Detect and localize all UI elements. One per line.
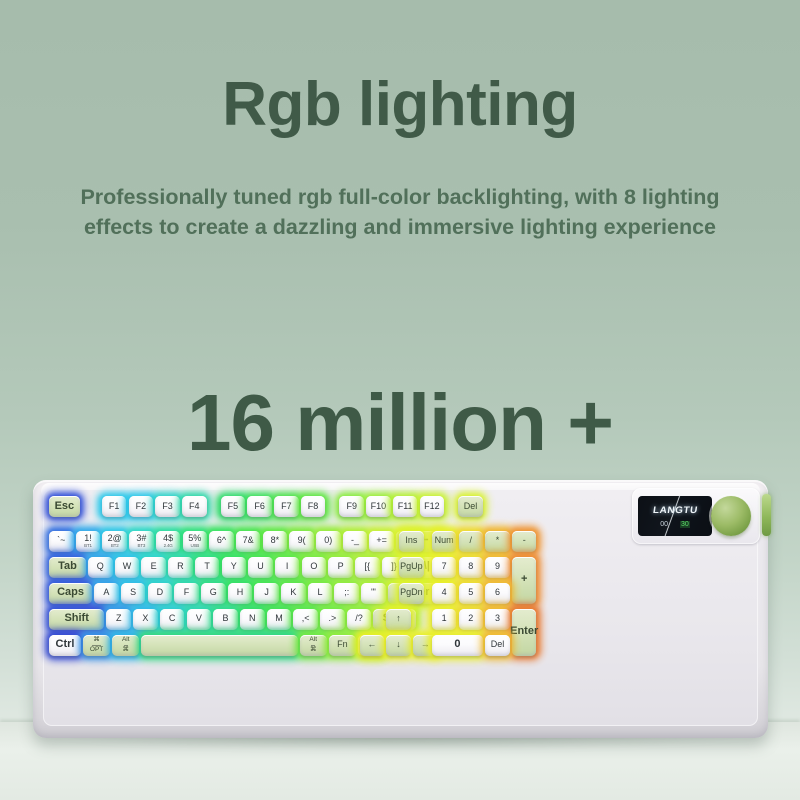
key-key[interactable]: `~ bbox=[49, 531, 74, 552]
key-numlock[interactable]: Num bbox=[432, 531, 457, 552]
key-numpad-4[interactable]: 4 bbox=[432, 583, 457, 604]
key-m[interactable]: M bbox=[267, 609, 292, 630]
key-k[interactable]: K bbox=[281, 583, 306, 604]
key-f7[interactable]: F7 bbox=[274, 496, 299, 517]
page-title: Rgb lighting bbox=[0, 72, 800, 137]
key-label: Alt⌘ bbox=[122, 636, 130, 654]
key-e[interactable]: E bbox=[141, 557, 166, 578]
key-sublabel: USB bbox=[188, 544, 201, 549]
key-f10[interactable]: F10 bbox=[366, 496, 391, 517]
key-r[interactable]: R bbox=[168, 557, 193, 578]
key-f4[interactable]: F4 bbox=[182, 496, 207, 517]
key-q[interactable]: Q bbox=[88, 557, 113, 578]
key-numpad-0[interactable]: 0 bbox=[432, 635, 483, 656]
keyboard: LANGTU 00 30 EscF1F2F3F4F5F6F7F8F9F10F11… bbox=[33, 480, 768, 738]
key-j[interactable]: J bbox=[254, 583, 279, 604]
key-key[interactable]: -_ bbox=[343, 531, 368, 552]
key-numpad-divide[interactable]: / bbox=[459, 531, 484, 552]
key-numpad-enter[interactable]: Enter bbox=[512, 609, 537, 656]
key-del-top[interactable]: Del bbox=[458, 496, 483, 517]
key-key[interactable]: /? bbox=[347, 609, 372, 630]
key-u[interactable]: U bbox=[248, 557, 273, 578]
key-label: 5% bbox=[188, 533, 201, 543]
key-ins[interactable]: Ins bbox=[399, 531, 424, 552]
key-7[interactable]: 7& bbox=[236, 531, 261, 552]
key-numpad-9[interactable]: 9 bbox=[485, 557, 510, 578]
key-numpad-7[interactable]: 7 bbox=[432, 557, 457, 578]
key-key[interactable]: '" bbox=[361, 583, 386, 604]
key-caps[interactable]: Caps bbox=[49, 583, 92, 604]
key-numpad-2[interactable]: 2 bbox=[459, 609, 484, 630]
key-key[interactable]: ;: bbox=[334, 583, 359, 604]
key-a[interactable]: A bbox=[94, 583, 119, 604]
key-b[interactable]: B bbox=[213, 609, 238, 630]
color-count-headline: 16 million + bbox=[0, 377, 800, 469]
key-f12[interactable]: F12 bbox=[420, 496, 445, 517]
key-w[interactable]: W bbox=[115, 557, 140, 578]
key-0[interactable]: 0) bbox=[316, 531, 341, 552]
key-f9[interactable]: F9 bbox=[339, 496, 364, 517]
volume-knob[interactable] bbox=[711, 496, 751, 536]
oled-screen: LANGTU 00 30 bbox=[638, 496, 712, 536]
key-numpad-5[interactable]: 5 bbox=[459, 583, 484, 604]
key-numpad-3[interactable]: 3 bbox=[485, 609, 510, 630]
key-p[interactable]: P bbox=[328, 557, 353, 578]
key-numpad-multiply[interactable]: * bbox=[485, 531, 510, 552]
key-z[interactable]: Z bbox=[106, 609, 131, 630]
key-8[interactable]: 8* bbox=[263, 531, 288, 552]
key-i[interactable]: I bbox=[275, 557, 300, 578]
key-label: 4$ bbox=[163, 533, 173, 543]
key-shift-left[interactable]: Shift bbox=[49, 609, 104, 630]
key-label: 3# bbox=[136, 533, 146, 543]
key-key[interactable]: ,< bbox=[293, 609, 318, 630]
key-alt[interactable]: Alt⌘ bbox=[300, 635, 327, 656]
promo-banner: Rgb lighting Professionally tuned rgb fu… bbox=[0, 0, 800, 800]
key-f5[interactable]: F5 bbox=[221, 496, 246, 517]
brand-logo: LANGTU bbox=[652, 505, 698, 515]
key-sublabel: BT1 bbox=[84, 544, 92, 549]
key-key[interactable]: .> bbox=[320, 609, 345, 630]
key-arrow-up[interactable]: ↑ bbox=[386, 609, 411, 630]
key-sublabel: 2.4G bbox=[163, 544, 173, 549]
key-c[interactable]: C bbox=[160, 609, 185, 630]
key-f6[interactable]: F6 bbox=[247, 496, 272, 517]
key-fn[interactable]: Fn bbox=[329, 635, 356, 656]
key-f2[interactable]: F2 bbox=[129, 496, 154, 517]
key-4[interactable]: 4$2.4G bbox=[156, 531, 181, 552]
key-f11[interactable]: F11 bbox=[393, 496, 418, 517]
key-label: 2@ bbox=[108, 533, 122, 543]
display-module: LANGTU 00 30 bbox=[632, 488, 760, 544]
key-1[interactable]: 1!BT1 bbox=[76, 531, 101, 552]
key-v[interactable]: V bbox=[187, 609, 212, 630]
key-ctrl-left[interactable]: Ctrl bbox=[49, 635, 81, 656]
key-d[interactable]: D bbox=[148, 583, 173, 604]
key-numpad-8[interactable]: 8 bbox=[459, 557, 484, 578]
key-key[interactable]: += bbox=[369, 531, 394, 552]
screen-readout: 00 30 bbox=[660, 521, 690, 528]
key-5[interactable]: 5%USB bbox=[183, 531, 208, 552]
key-numpad-plus[interactable]: + bbox=[512, 557, 537, 604]
key-f3[interactable]: F3 bbox=[155, 496, 180, 517]
key-f1[interactable]: F1 bbox=[102, 496, 127, 517]
keyboard-case: LANGTU 00 30 EscF1F2F3F4F5F6F7F8F9F10F11… bbox=[33, 480, 768, 738]
key-space[interactable] bbox=[141, 635, 297, 656]
side-accent-strip bbox=[762, 494, 771, 536]
key-g[interactable]: G bbox=[201, 583, 226, 604]
key-h[interactable]: H bbox=[228, 583, 253, 604]
key-o[interactable]: O bbox=[302, 557, 327, 578]
key-sublabel: BT2 bbox=[108, 544, 122, 549]
key-f8[interactable]: F8 bbox=[301, 496, 326, 517]
key-9[interactable]: 9( bbox=[289, 531, 314, 552]
key-pgup[interactable]: PgUp bbox=[399, 557, 424, 578]
key-key[interactable]: [{ bbox=[355, 557, 380, 578]
key-6[interactable]: 6^ bbox=[209, 531, 234, 552]
key-numpad-minus[interactable]: - bbox=[512, 531, 537, 552]
key-2[interactable]: 2@BT2 bbox=[102, 531, 127, 552]
key-t[interactable]: T bbox=[195, 557, 220, 578]
key-label: 1! bbox=[84, 533, 92, 543]
key-n[interactable]: N bbox=[240, 609, 265, 630]
key-sublabel: BT3 bbox=[136, 544, 146, 549]
key-numpad-del[interactable]: Del bbox=[485, 635, 510, 656]
key-l[interactable]: L bbox=[308, 583, 333, 604]
key-y[interactable]: Y bbox=[222, 557, 247, 578]
key-x[interactable]: X bbox=[133, 609, 158, 630]
key-label: ⌘OPT bbox=[90, 636, 103, 654]
key-pgdn[interactable]: PgDn bbox=[399, 583, 424, 604]
key-arrow-left[interactable]: ← bbox=[360, 635, 385, 656]
key-arrow-down[interactable]: ↓ bbox=[386, 635, 411, 656]
key-label: Alt⌘ bbox=[309, 636, 317, 654]
key-f[interactable]: F bbox=[174, 583, 199, 604]
key-3[interactable]: 3#BT3 bbox=[129, 531, 154, 552]
key-numpad-6[interactable]: 6 bbox=[485, 583, 510, 604]
key-numpad-1[interactable]: 1 bbox=[432, 609, 457, 630]
key-esc[interactable]: Esc bbox=[49, 496, 80, 517]
key-tab[interactable]: Tab bbox=[49, 557, 86, 578]
screen-value-right: 30 bbox=[680, 521, 690, 528]
screen-value-left: 00 bbox=[660, 521, 668, 528]
key-alt[interactable]: Alt⌘ bbox=[112, 635, 139, 656]
key-s[interactable]: S bbox=[121, 583, 146, 604]
page-subtitle: Professionally tuned rgb full-color back… bbox=[52, 183, 748, 242]
key-opt[interactable]: ⌘OPT bbox=[83, 635, 110, 656]
